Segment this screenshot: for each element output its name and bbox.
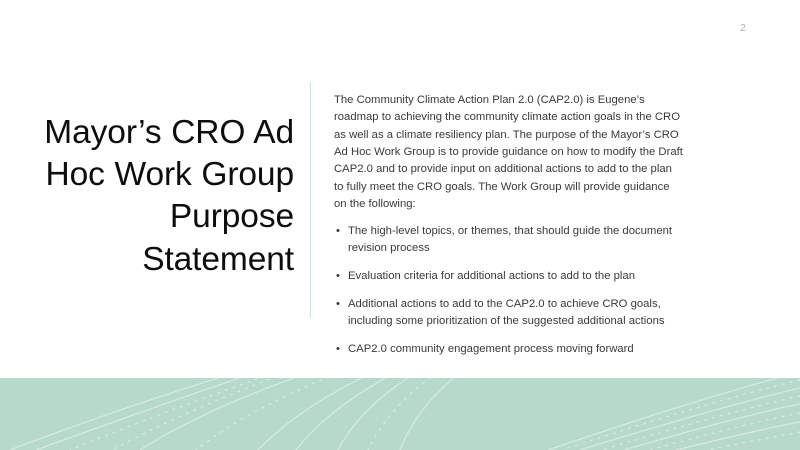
intro-paragraph: The Community Climate Action Plan 2.0 (C…: [334, 92, 684, 213]
bullet-icon: •: [336, 223, 340, 239]
bullet-list: • The high-level topics, or themes, that…: [334, 223, 684, 357]
bullet-icon: •: [336, 296, 340, 312]
title-block: Mayor’s CRO Ad Hoc Work Group Purpose St…: [28, 112, 294, 281]
list-item-label: Additional actions to add to the CAP2.0 …: [348, 298, 665, 326]
bottom-decorative-band: [0, 378, 800, 450]
bullet-icon: •: [336, 268, 340, 284]
vertical-divider: [310, 82, 311, 318]
list-item: • Additional actions to add to the CAP2.…: [334, 296, 684, 329]
page-title: Mayor’s CRO Ad Hoc Work Group Purpose St…: [28, 112, 294, 281]
list-item: • CAP2.0 community engagement process mo…: [334, 341, 684, 357]
list-item: • Evaluation criteria for additional act…: [334, 268, 684, 284]
content-column: The Community Climate Action Plan 2.0 (C…: [334, 92, 684, 358]
bullet-icon: •: [336, 341, 340, 357]
list-item: • The high-level topics, or themes, that…: [334, 223, 684, 256]
decorative-arcs: [0, 378, 800, 450]
list-item-label: The high-level topics, or themes, that s…: [348, 225, 672, 253]
slide-canvas: 2 Mayor’s CRO Ad Hoc Work Group Purpose …: [0, 0, 800, 450]
list-item-label: CAP2.0 community engagement process movi…: [348, 343, 634, 355]
list-item-label: Evaluation criteria for additional actio…: [348, 270, 635, 282]
page-number: 2: [740, 24, 746, 34]
